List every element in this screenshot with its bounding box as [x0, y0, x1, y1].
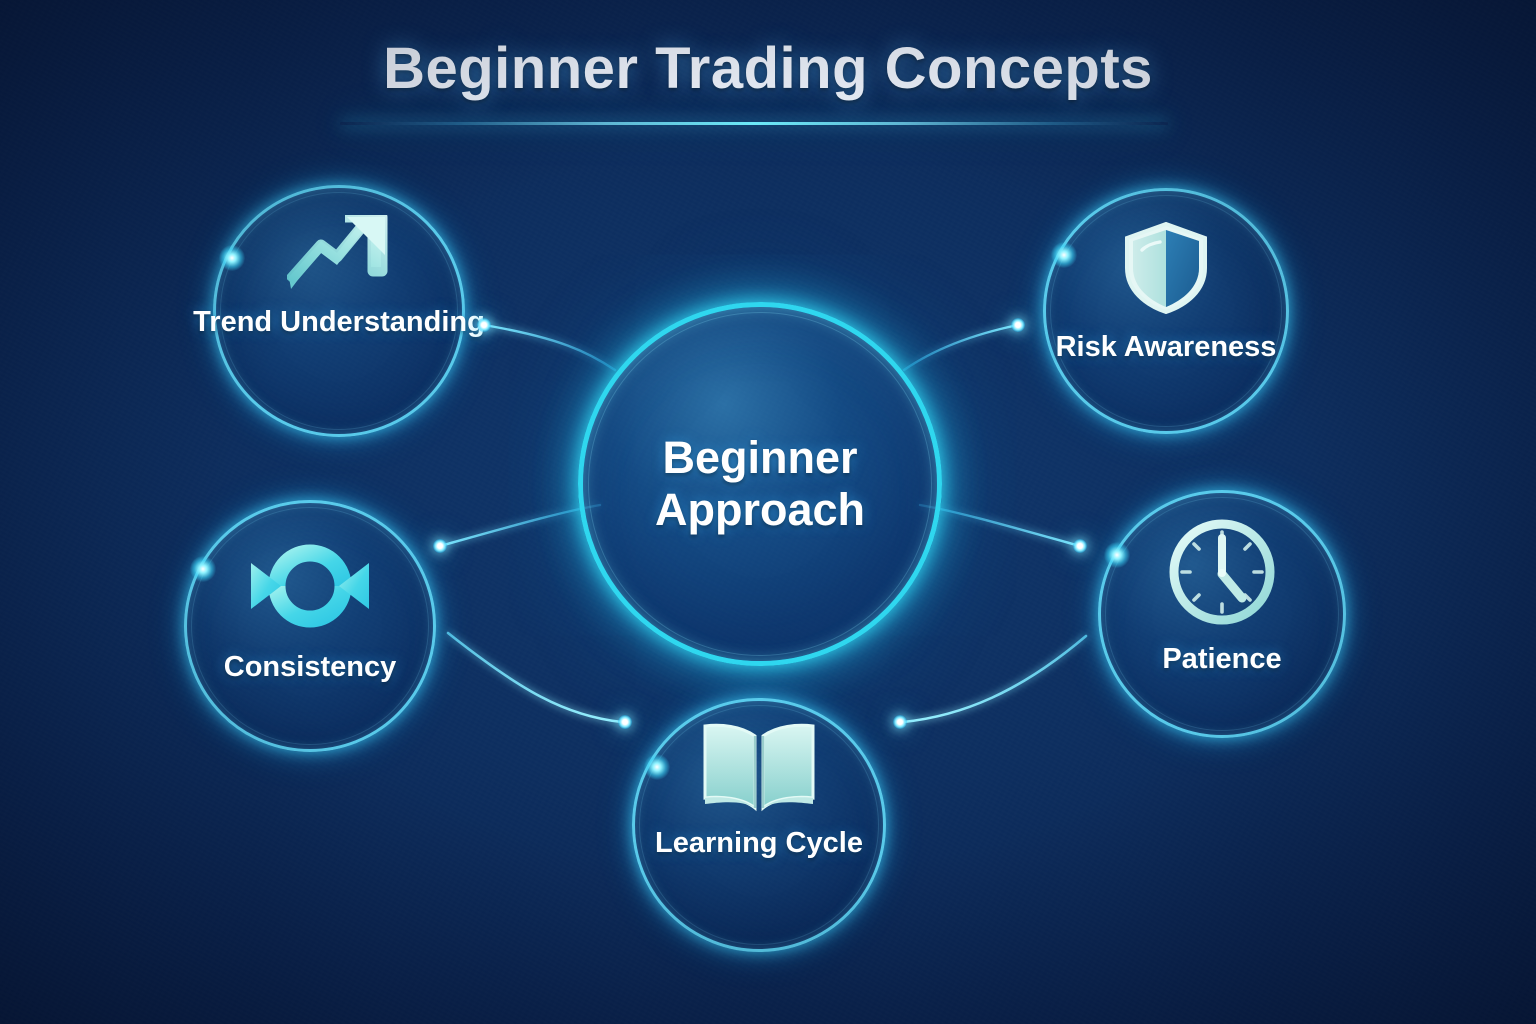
- link-center-risk: [904, 325, 1018, 370]
- node-label-learning-cycle: Learning Cycle: [655, 827, 863, 859]
- shield-icon: [1123, 222, 1209, 319]
- link-center-consistency: [440, 505, 600, 546]
- node-label-patience: Patience: [1162, 643, 1281, 675]
- node-patience[interactable]: Patience: [1098, 490, 1346, 738]
- refresh-cycle-icon: [247, 530, 373, 647]
- trending-up-arrow-icon: [287, 215, 391, 298]
- link-center-trend: [484, 325, 615, 370]
- link-center-patience: [920, 505, 1080, 546]
- node-label-beginner-approach: Beginner Approach: [610, 432, 910, 536]
- connector-dot-patience: [1073, 539, 1087, 553]
- connector-dot-trend: [477, 318, 491, 332]
- connector-dot-risk: [1011, 318, 1025, 332]
- node-risk-awareness[interactable]: Risk Awareness: [1043, 188, 1289, 434]
- clock-icon: [1166, 516, 1278, 633]
- connector-dot-learning-left: [618, 715, 632, 729]
- link-consistency-learning: [448, 633, 622, 722]
- node-consistency[interactable]: Consistency: [184, 500, 436, 752]
- node-beginner-approach[interactable]: Beginner Approach: [578, 302, 942, 666]
- link-patience-learning: [903, 636, 1086, 722]
- connector-dot-consistency: [433, 539, 447, 553]
- node-trend-understanding[interactable]: Trend Understanding: [213, 185, 465, 437]
- node-label-risk-awareness: Risk Awareness: [1056, 331, 1277, 363]
- connector-dot-learning-right: [893, 715, 907, 729]
- node-label-trend-understanding: Trend Understanding: [189, 306, 489, 338]
- node-learning-cycle[interactable]: Learning Cycle: [632, 698, 886, 952]
- node-label-consistency: Consistency: [224, 651, 396, 683]
- diagram-canvas: Beginner Trading Concepts: [0, 0, 1536, 1024]
- open-book-icon: [697, 720, 821, 821]
